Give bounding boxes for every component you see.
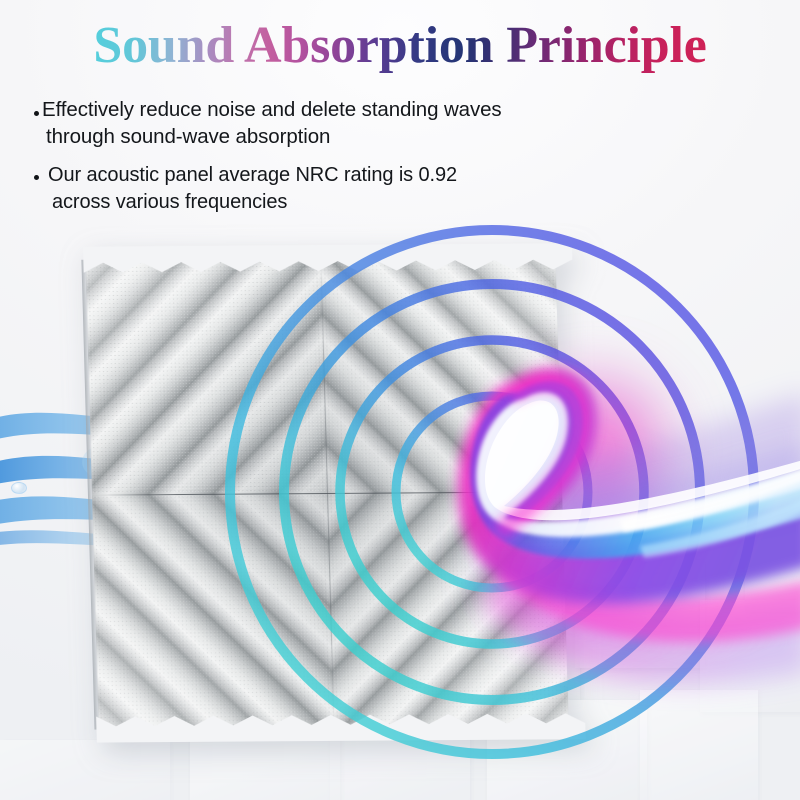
feature-bullet-list: Effectively reduce noise and delete stan…: [34, 96, 694, 228]
panel-quadrant: [85, 258, 327, 495]
bullet-line: through sound-wave absorption: [42, 123, 502, 150]
foam-texture: [327, 491, 569, 728]
acoustic-foam-panel: [85, 256, 568, 729]
bullet-line: Our acoustic panel average NRC rating is…: [48, 164, 457, 186]
panel-quadrant: [327, 491, 569, 728]
foam-texture: [320, 256, 562, 493]
panel-quadrant: [92, 493, 334, 730]
bullet-item: Effectively reduce noise and delete stan…: [34, 96, 694, 150]
page-title-container: Sound Absorption Principle: [0, 16, 800, 76]
tile: [0, 740, 170, 800]
tile: [640, 690, 758, 800]
product-feature-image: Sound Absorption Principle Effectively r…: [0, 0, 800, 800]
bullet-text: Our acoustic panel average NRC rating is…: [48, 162, 457, 216]
foam-texture: [85, 258, 327, 495]
bullet-dot-icon: [34, 111, 39, 116]
tile: [745, 520, 800, 612]
bullet-text: Effectively reduce noise and delete stan…: [42, 96, 502, 150]
panel-quadrant: [320, 256, 562, 493]
foam-texture: [92, 493, 334, 730]
bullet-line: across various frequencies: [48, 189, 457, 216]
tile: [575, 560, 705, 668]
bullet-dot-icon: [34, 175, 39, 180]
page-title: Sound Absorption Principle: [93, 16, 706, 76]
bullet-line: Effectively reduce noise and delete stan…: [42, 98, 502, 121]
bullet-item: Our acoustic panel average NRC rating is…: [34, 162, 694, 216]
